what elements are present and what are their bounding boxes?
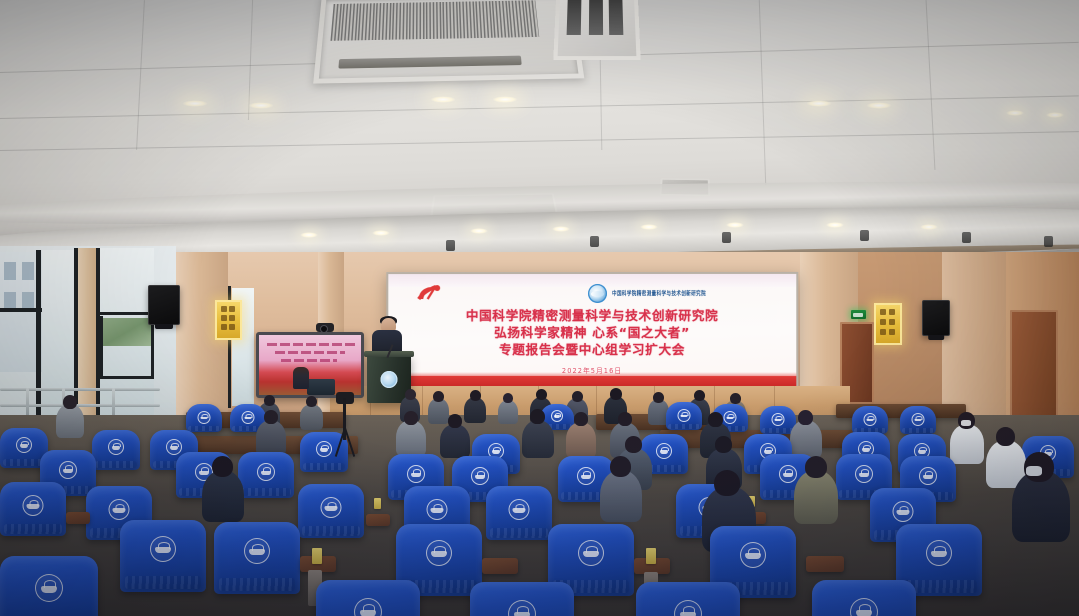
cpc-hammer-sickle-emblem xyxy=(414,282,444,304)
auditorium-seat[interactable] xyxy=(812,580,916,616)
seat-emblem xyxy=(740,542,766,568)
seat-emblem xyxy=(407,465,425,483)
window-guard-rail xyxy=(0,404,160,407)
window-guard-post xyxy=(112,388,115,418)
seat-emblem xyxy=(108,439,124,455)
recessed-downlight xyxy=(1006,110,1024,116)
seat-emblem xyxy=(35,574,63,602)
window-sash-frame xyxy=(100,312,154,315)
attendee xyxy=(566,422,596,458)
illuminated-wall-sign-right xyxy=(874,303,902,345)
seat-tablet-latch xyxy=(646,548,656,564)
seat-emblem xyxy=(166,439,182,455)
recessed-downlight xyxy=(866,102,892,109)
soffit-downlight xyxy=(552,226,570,232)
face-mask xyxy=(1026,466,1042,476)
window-mullion xyxy=(0,308,42,312)
left-wall-display xyxy=(256,332,364,398)
soffit-downlight xyxy=(300,232,318,238)
attendee xyxy=(498,400,518,424)
attendee-head xyxy=(610,388,622,400)
seat-emblem xyxy=(23,495,44,516)
attendee-head xyxy=(264,410,278,424)
seat-emblem xyxy=(919,467,937,485)
attendee-head xyxy=(798,410,813,425)
attendee-head xyxy=(572,391,583,402)
auditorium-seat[interactable] xyxy=(316,580,420,616)
seat-emblem xyxy=(551,410,563,422)
window-sash-frame xyxy=(100,376,154,379)
face-mask xyxy=(961,420,971,426)
conference-hall-photo: 中国科学院精密测量科学与技术创新研究院 中国科学院精密测量科学与技术创新研究院 … xyxy=(0,0,1079,616)
seat-emblem xyxy=(779,465,797,483)
seat-armrest xyxy=(66,512,90,524)
seat-emblem xyxy=(150,536,176,562)
attendee-head xyxy=(212,456,233,477)
seat-emblem xyxy=(354,598,382,616)
attendee-head xyxy=(536,389,547,400)
ceiling-spot-fixture xyxy=(722,232,731,243)
attendee-head xyxy=(63,395,77,409)
display-live-feed xyxy=(259,335,361,395)
auditorium-seat[interactable] xyxy=(120,520,206,592)
auditorium-seat[interactable] xyxy=(666,402,702,430)
podium-institute-seal xyxy=(381,371,398,388)
attendee-head xyxy=(530,409,545,424)
recessed-downlight xyxy=(182,100,208,107)
attendee-head xyxy=(433,391,444,402)
screen-title-block: 中国科学院精密测量科学与技术创新研究院 弘扬科学家精神 心系“国之大者” 专题报… xyxy=(388,307,796,358)
auditorium-seat[interactable] xyxy=(470,582,574,616)
attendee-head xyxy=(708,412,723,427)
seat-emblem xyxy=(316,441,332,457)
exterior-window xyxy=(22,262,34,280)
seat-armrest xyxy=(806,556,844,572)
seat-emblem xyxy=(242,411,255,424)
ceiling-spot-fixture xyxy=(962,232,971,243)
attendee-head xyxy=(714,470,740,496)
seat-emblem xyxy=(59,461,77,479)
attendee-head xyxy=(404,411,418,425)
seat-emblem xyxy=(321,497,342,518)
institute-logo-mark xyxy=(588,284,607,303)
attendee-head xyxy=(610,456,631,477)
attendee-head xyxy=(653,392,664,403)
auditorium-seat[interactable] xyxy=(92,430,140,470)
attendee xyxy=(202,470,244,522)
soffit-downlight xyxy=(470,228,488,234)
soffit-downlight xyxy=(920,224,938,230)
auditorium-seat[interactable] xyxy=(214,522,300,594)
seat-emblem xyxy=(426,540,452,566)
attendee-with-glasses xyxy=(950,424,984,464)
seat-emblem xyxy=(724,411,737,424)
seat-tablet-latch xyxy=(374,498,381,509)
institute-logo-text: 中国科学院精密测量科学与技术创新研究院 xyxy=(612,289,706,297)
attendee-head xyxy=(694,390,705,401)
ceiling-air-vent-secondary xyxy=(553,0,640,60)
window-guard-post xyxy=(26,388,29,418)
attendee-head xyxy=(405,389,416,400)
auditorium-seat[interactable] xyxy=(298,484,364,538)
auditorium-seat[interactable] xyxy=(0,482,66,536)
seat-emblem xyxy=(772,413,785,426)
seat-tablet-latch xyxy=(312,548,322,564)
seat-emblem xyxy=(674,600,702,616)
ceiling-spot-fixture xyxy=(590,236,599,247)
recessed-downlight xyxy=(1046,112,1064,118)
screen-title-line1: 中国科学院精密测量科学与技术创新研究院 xyxy=(388,307,796,324)
recessed-downlight xyxy=(430,96,456,103)
seat-emblem xyxy=(850,598,878,616)
wall-pillar-far-right xyxy=(940,252,1006,427)
attendee-head xyxy=(306,396,317,407)
screen-title-line2: 弘扬科学家精神 心系“国之大者” xyxy=(388,324,796,341)
ptz-camera xyxy=(316,323,334,332)
soffit-downlight xyxy=(372,230,390,236)
attendee-head xyxy=(448,414,462,428)
institute-logo: 中国科学院精密测量科学与技术创新研究院 xyxy=(588,284,706,303)
attendee-head xyxy=(618,412,632,426)
window-sash-frame xyxy=(151,316,154,378)
attendee xyxy=(440,424,470,458)
attendee-head xyxy=(503,393,513,403)
seat-emblem xyxy=(656,443,672,459)
auditorium-seat[interactable] xyxy=(238,452,294,498)
side-door-far-right xyxy=(1010,310,1058,418)
auditorium-seat[interactable] xyxy=(0,556,98,616)
seat-emblem xyxy=(855,465,873,483)
wall-loudspeaker-far-right xyxy=(922,300,950,336)
seat-emblem xyxy=(509,499,530,520)
seat-emblem xyxy=(109,499,130,520)
seat-emblem xyxy=(678,409,691,422)
exterior-window xyxy=(4,262,16,280)
attendee xyxy=(300,404,323,430)
attendee-head xyxy=(805,456,827,478)
recessed-downlight xyxy=(248,102,274,109)
wall-loudspeaker-left xyxy=(148,285,180,325)
projection-screen: 中国科学院精密测量科学与技术创新研究院 中国科学院精密测量科学与技术创新研究院 … xyxy=(386,272,798,390)
emergency-exit-sign xyxy=(851,310,866,319)
soffit-downlight xyxy=(726,222,744,228)
soffit-downlight xyxy=(826,222,844,228)
window-column xyxy=(78,248,96,428)
seat-emblem xyxy=(508,600,536,616)
seat-emblem xyxy=(864,413,877,426)
attendee-head xyxy=(730,393,741,404)
attendee-head xyxy=(264,395,275,406)
attendee-head xyxy=(625,436,642,453)
attendee xyxy=(56,404,84,438)
attendee-head xyxy=(574,412,588,426)
auditorium-seat[interactable] xyxy=(636,582,740,616)
ceiling-spot-fixture xyxy=(860,230,869,241)
window-guard-rail xyxy=(0,388,160,391)
attendee-head xyxy=(715,436,732,453)
auditorium-seat[interactable] xyxy=(486,486,552,540)
seat-emblem xyxy=(16,437,32,453)
ceiling-air-conditioning-vent xyxy=(313,0,584,84)
exterior-foliage xyxy=(103,318,151,346)
seat-emblem xyxy=(577,467,595,485)
ceiling-spot-fixture xyxy=(1044,236,1053,247)
seat-emblem xyxy=(893,501,914,522)
seat-emblem xyxy=(471,467,489,485)
attendee xyxy=(790,420,822,458)
attendee xyxy=(256,420,286,456)
attendee-head xyxy=(470,390,481,401)
recessed-downlight xyxy=(492,96,518,103)
seat-armrest xyxy=(482,558,518,574)
seat-emblem xyxy=(198,411,211,424)
screen-title-line3: 专题报告会暨中心组学习扩大会 xyxy=(388,341,796,358)
illuminated-wall-sign-left xyxy=(215,300,242,340)
attendee xyxy=(794,470,838,524)
recessed-downlight xyxy=(806,100,832,107)
seat-armrest xyxy=(366,514,390,526)
attendee xyxy=(522,420,554,458)
soffit-downlight xyxy=(640,224,658,230)
seat-emblem xyxy=(926,540,952,566)
auditorium-seat[interactable] xyxy=(852,406,888,434)
seat-emblem xyxy=(244,538,270,564)
attendee xyxy=(396,420,426,456)
auditorium-seat[interactable] xyxy=(186,404,222,432)
seat-emblem xyxy=(257,463,275,481)
window-mullion xyxy=(36,250,41,428)
seat-emblem xyxy=(427,499,448,520)
attendee-head xyxy=(996,427,1015,446)
attendee xyxy=(600,470,642,522)
seat-emblem xyxy=(578,540,604,566)
auditorium-seat[interactable] xyxy=(900,406,936,434)
ceiling-spot-fixture xyxy=(446,240,455,251)
seat-emblem xyxy=(912,413,925,426)
